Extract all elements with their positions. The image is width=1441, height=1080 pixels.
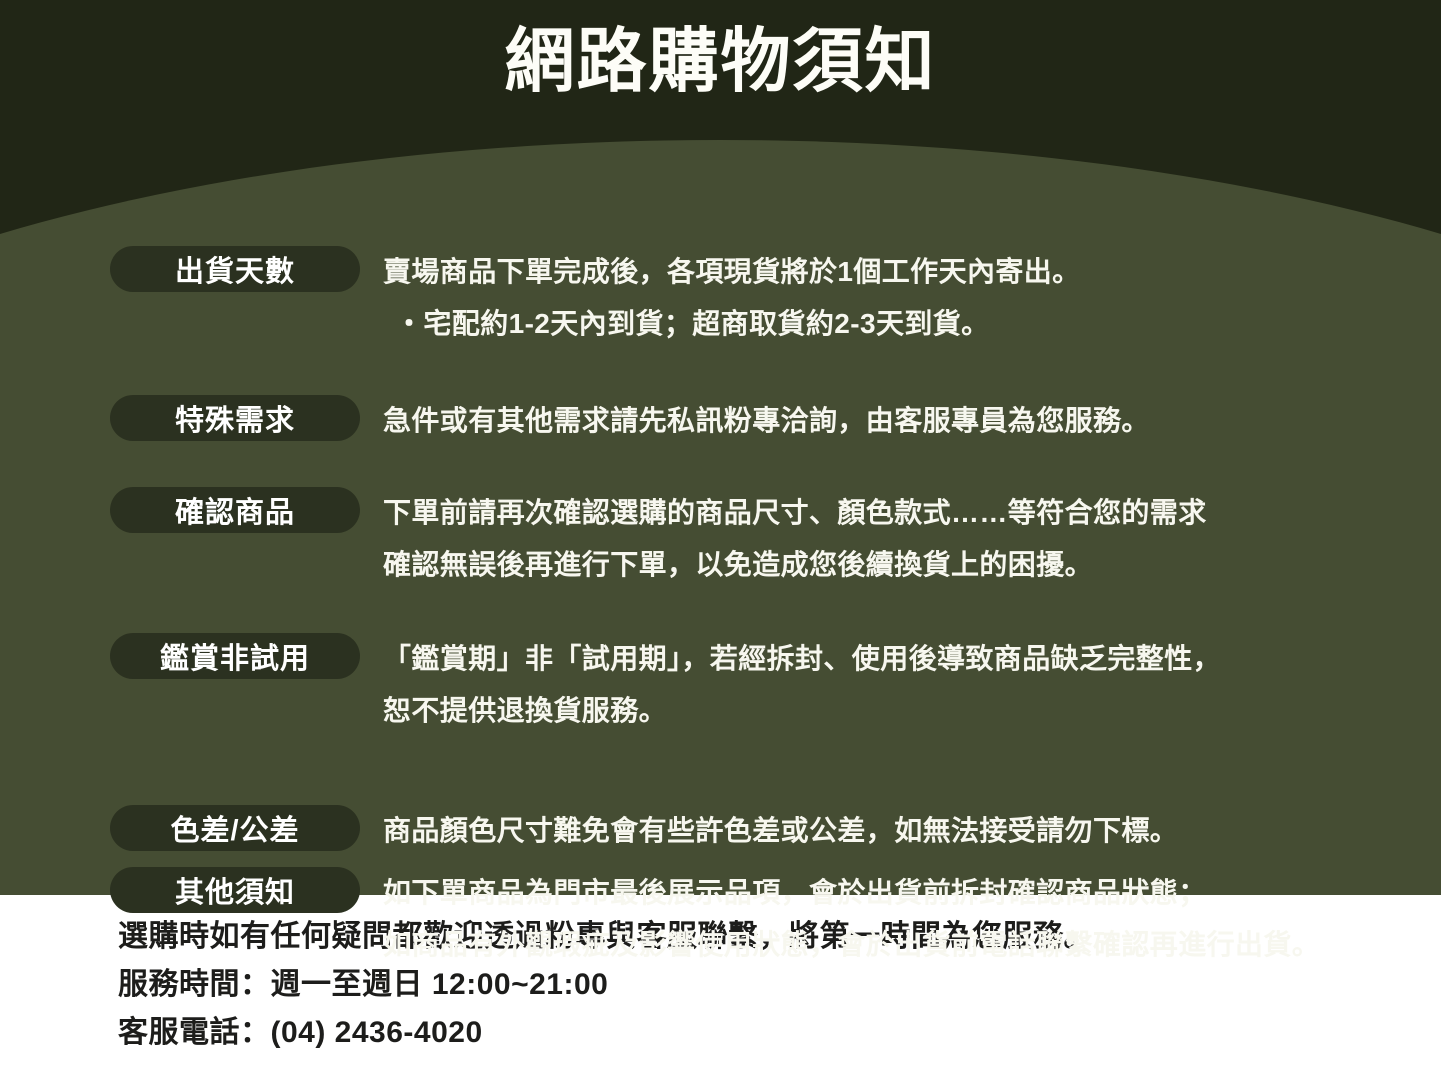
notice-label-special-request: 特殊需求 — [110, 395, 360, 441]
notice-label-inspection-not-trial: 鑑賞非試用 — [110, 633, 360, 679]
notice-label-wrap: 出貨天數 — [0, 246, 360, 292]
notice-body: 商品顏色尺寸難免會有些許色差或公差，如無法接受請勿下標。 — [360, 805, 1441, 857]
notice-label-other-notes: 其他須知 — [110, 867, 360, 913]
notice-label-confirm-product: 確認商品 — [110, 487, 360, 533]
notice-text-line: 如下單商品為門市最後展示品項，會於出貨前拆封確認商品狀態； — [383, 867, 1441, 919]
notice-label-wrap: 其他須知 — [0, 867, 360, 913]
notice-text-line: 確認無誤後再進行下單，以免造成您後續換貨上的困擾。 — [383, 539, 1441, 591]
notice-rows: 出貨天數 賣場商品下單完成後，各項現貨將於1個工作天內寄出。 ・宅配約1-2天內… — [0, 246, 1441, 971]
notice-body: 如下單商品為門市最後展示品項，會於出貨前拆封確認商品狀態； 如商品有外觀瑕疵及影… — [360, 867, 1441, 971]
notice-body: 下單前請再次確認選購的商品尺寸、顏色款式……等符合您的需求 確認無誤後再進行下單… — [360, 487, 1441, 591]
online-shopping-notice-poster: 網路購物須知 出貨天數 賣場商品下單完成後，各項現貨將於1個工作天內寄出。 ・宅… — [0, 0, 1441, 1080]
notice-label-wrap: 特殊需求 — [0, 395, 360, 441]
notice-text-line: ・宅配約1-2天內到貨；超商取貨約2-3天到貨。 — [383, 298, 1441, 350]
notice-label-shipping-days: 出貨天數 — [110, 246, 360, 292]
footer-service-phone: 客服電話：(04) 2436-4020 — [118, 1009, 1441, 1057]
notice-body: 「鑑賞期」非「試用期」，若經拆封、使用後導致商品缺乏完整性， 恕不提供退換貨服務… — [360, 633, 1441, 737]
notice-text-line: 如商品有外觀瑕疵及影響使用狀態，會於出貨前電話聯繫確認再進行出貨。 — [383, 919, 1441, 971]
notice-text-line: 「鑑賞期」非「試用期」，若經拆封、使用後導致商品缺乏完整性， — [383, 633, 1441, 685]
notice-row: 其他須知 如下單商品為門市最後展示品項，會於出貨前拆封確認商品狀態； 如商品有外… — [0, 867, 1441, 971]
notice-label-wrap: 鑑賞非試用 — [0, 633, 360, 679]
notice-text-line: 下單前請再次確認選購的商品尺寸、顏色款式……等符合您的需求 — [383, 487, 1441, 539]
notice-text-line: 賣場商品下單完成後，各項現貨將於1個工作天內寄出。 — [383, 246, 1441, 298]
notice-row: 特殊需求 急件或有其他需求請先私訊粉專洽詢，由客服專員為您服務。 — [0, 395, 1441, 447]
notice-body: 急件或有其他需求請先私訊粉專洽詢，由客服專員為您服務。 — [360, 395, 1441, 447]
notice-label-wrap: 色差/公差 — [0, 805, 360, 851]
notice-label-wrap: 確認商品 — [0, 487, 360, 533]
notice-row: 確認商品 下單前請再次確認選購的商品尺寸、顏色款式……等符合您的需求 確認無誤後… — [0, 487, 1441, 591]
notice-row: 出貨天數 賣場商品下單完成後，各項現貨將於1個工作天內寄出。 ・宅配約1-2天內… — [0, 246, 1441, 350]
notice-row: 鑑賞非試用 「鑑賞期」非「試用期」，若經拆封、使用後導致商品缺乏完整性， 恕不提… — [0, 633, 1441, 737]
notice-body: 賣場商品下單完成後，各項現貨將於1個工作天內寄出。 ・宅配約1-2天內到貨；超商… — [360, 246, 1441, 350]
notice-text-line: 商品顏色尺寸難免會有些許色差或公差，如無法接受請勿下標。 — [383, 805, 1441, 857]
notice-row: 色差/公差 商品顏色尺寸難免會有些許色差或公差，如無法接受請勿下標。 — [0, 805, 1441, 857]
notice-label-color-size-tolerance: 色差/公差 — [110, 805, 360, 851]
page-title: 網路購物須知 — [0, 22, 1441, 100]
notice-text-line: 恕不提供退換貨服務。 — [383, 685, 1441, 737]
notice-text-line: 急件或有其他需求請先私訊粉專洽詢，由客服專員為您服務。 — [383, 395, 1441, 447]
